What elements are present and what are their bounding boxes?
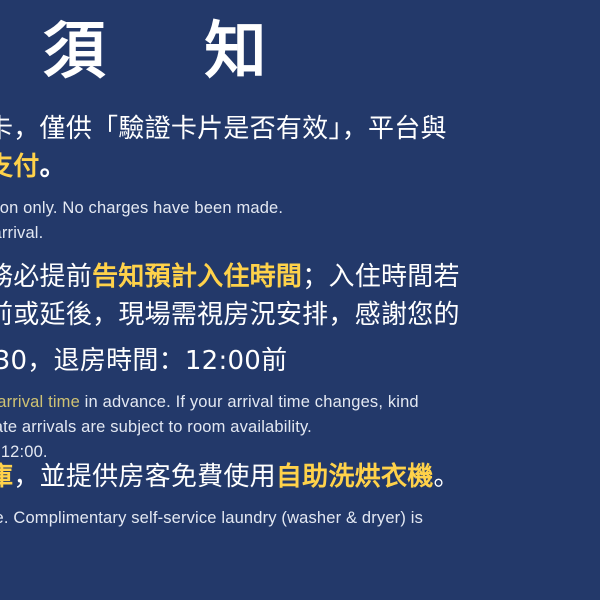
checkin-zh-line-1: 休息，請務必提前告知預計入住時間；入住時間若 <box>0 258 600 296</box>
checkin-highlight-arrival-time: 告知預計入住時間 <box>92 262 302 292</box>
payment-zh-quote-close: 」 <box>328 114 341 144</box>
checkin-zh-line-2: 確認之提前或延後，現場需視房況安排，感謝您的 <box>0 296 600 334</box>
payment-zh-quote-text: 驗證卡片是否有效 <box>118 114 328 144</box>
payment-zh-quote-open: 「 <box>92 114 118 144</box>
checkin-en-line-1: your estimated arrival time in advance. … <box>0 390 600 415</box>
checkin-en-line-1-rest: in advance. If your arrival time changes… <box>80 393 419 411</box>
checkin-zh-line-1-part-1: 休息，請務必提前 <box>0 262 92 292</box>
facility-zh-line-1-tail: 。 <box>433 462 459 492</box>
facility-en-line-1: a private garage. Complimentary self-ser… <box>0 506 600 531</box>
notice-content-canvas: 房 須 知 記之信用卡，僅供「驗證卡片是否有效」，平台與 抵達現場支付。 d i… <box>0 0 600 600</box>
facility-zh-line-1-part-2: ，並提供房客免費使用 <box>13 462 276 492</box>
booking-notice-card: 房 須 知 記之信用卡，僅供「驗證卡片是否有效」，平台與 抵達現場支付。 d i… <box>0 0 600 600</box>
payment-zh-line-1-part-2: ，平台與 <box>342 114 447 144</box>
facility-zh-line-1: 設獨立車庫，並提供房客免費使用自助洗烘衣機。 <box>0 458 600 496</box>
payment-zh-line-2-tail: 。 <box>40 152 66 182</box>
checkin-zh-line-3-times: 5:00-22:30，退房時間：12:00前 <box>0 342 600 380</box>
payment-zh-line-1: 記之信用卡，僅供「驗證卡片是否有效」，平台與 <box>0 110 600 148</box>
facility-highlight-garage: 獨立車庫 <box>0 462 13 492</box>
page-title: 房 須 知 <box>0 12 600 90</box>
checkin-en-line-2: irmed early or late arrivals are subject… <box>0 415 600 440</box>
facility-highlight-laundry: 自助洗烘衣機 <box>276 462 434 492</box>
section-payment: 記之信用卡，僅供「驗證卡片是否有效」，平台與 抵達現場支付。 d is for … <box>0 110 600 246</box>
payment-en-line-1: d is for verification only. No charges h… <box>0 196 600 221</box>
payment-zh-line-2: 抵達現場支付。 <box>0 148 600 186</box>
checkin-zh-line-1-part-2: ；入住時間若 <box>302 262 460 292</box>
payment-en-line-2: ont desk upon arrival. <box>0 221 600 246</box>
payment-highlight-onsite: 抵達現場支付 <box>0 152 40 182</box>
section-facility: 設獨立車庫，並提供房客免費使用自助洗烘衣機。 a private garage.… <box>0 458 600 531</box>
payment-zh-line-1-part-1: 記之信用卡，僅供 <box>0 114 92 144</box>
section-checkin: 休息，請務必提前告知預計入住時間；入住時間若 確認之提前或延後，現場需視房況安排… <box>0 258 600 465</box>
checkin-en-highlight-arrival-time: your estimated arrival time <box>0 393 80 411</box>
